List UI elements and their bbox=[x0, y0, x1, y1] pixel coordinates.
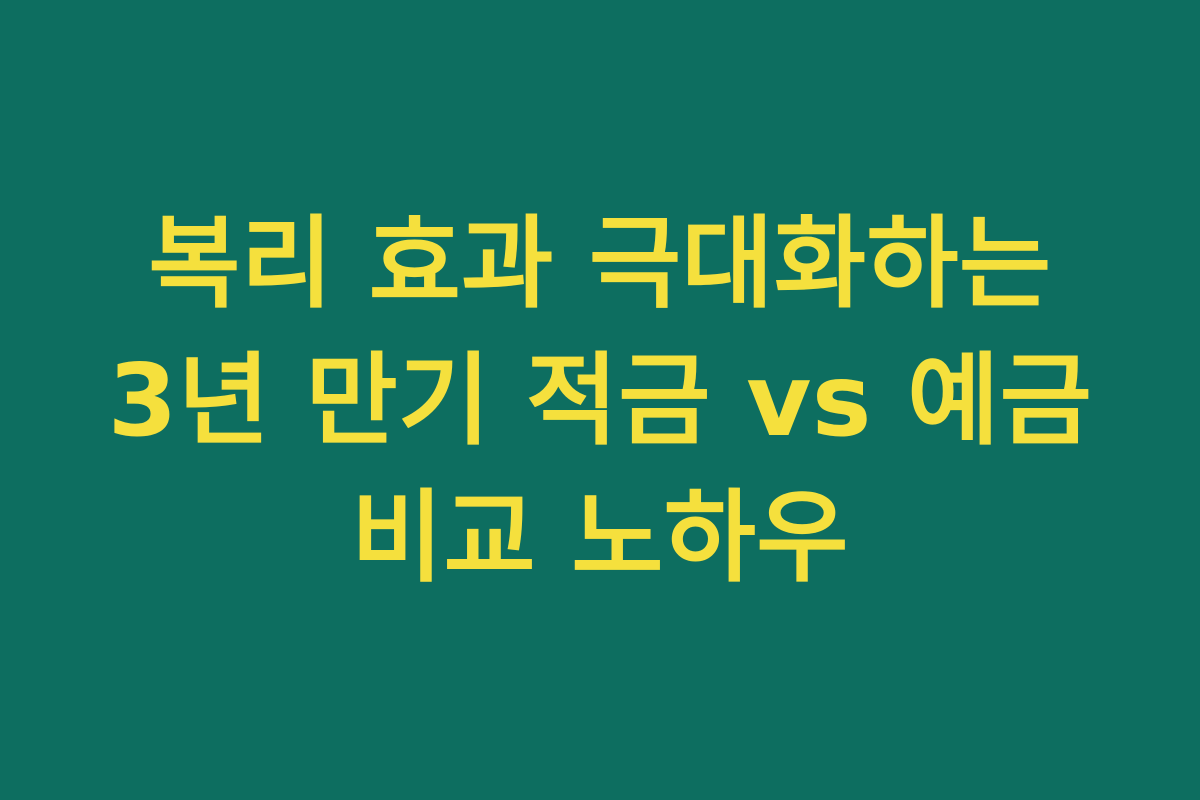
page-title: 복리 효과 극대화하는 3년 만기 적금 vs 예금 비교 노하우 bbox=[88, 195, 1112, 606]
title-card: 복리 효과 극대화하는 3년 만기 적금 vs 예금 비교 노하우 bbox=[0, 0, 1200, 800]
